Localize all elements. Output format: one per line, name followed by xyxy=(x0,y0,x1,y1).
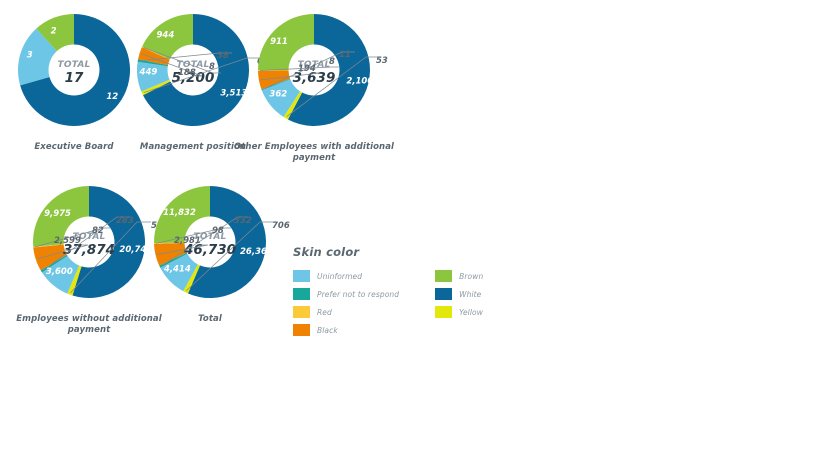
legend-item[interactable]: Red xyxy=(293,306,399,318)
donut-slice-label: 11,832 xyxy=(163,208,196,218)
legend: Skin color UninformedPrefer not to respo… xyxy=(293,245,503,336)
legend-column: BrownWhiteYellow xyxy=(435,270,483,336)
legend-swatch-icon xyxy=(435,306,452,318)
legend-swatch-icon xyxy=(293,306,310,318)
donut-slice-label-outside: 188 xyxy=(178,68,196,78)
donut-slice-label: 362 xyxy=(269,89,287,99)
donut-caption: Total xyxy=(125,314,295,325)
legend-column: UninformedPrefer not to respondRedBlack xyxy=(293,270,399,336)
donut-slice-label: 3,600 xyxy=(46,267,73,277)
donut-slice-label-outside: 194 xyxy=(298,64,316,74)
legend-swatch-icon xyxy=(293,270,310,282)
donut-slice-label-outside: 2,981 xyxy=(174,236,201,246)
legend-item[interactable]: Black xyxy=(293,324,399,336)
legend-title: Skin color xyxy=(293,245,503,259)
donut-slice-label: 944 xyxy=(156,30,174,40)
legend-item[interactable]: White xyxy=(435,288,483,300)
donut-slice-label: 4,414 xyxy=(163,264,191,274)
legend-item[interactable]: Brown xyxy=(435,270,483,282)
donut-slice-label: 2,100 xyxy=(346,77,373,87)
legend-item-label: Uninformed xyxy=(317,272,362,281)
donut-slice-label-outside: 53 xyxy=(376,56,388,66)
donut-slice-label-outside: 82 xyxy=(92,226,104,236)
donut-slice-label: 9,975 xyxy=(44,209,71,219)
legend-swatch-icon xyxy=(435,288,452,300)
legend-item[interactable]: Uninformed xyxy=(293,270,399,282)
donut-slice-label-outside: 98 xyxy=(212,226,224,236)
donut-total-value: 17 xyxy=(65,70,84,86)
donut-slice-label: 26,367 xyxy=(240,247,273,257)
legend-item[interactable]: Prefer not to respond xyxy=(293,288,399,300)
legend-swatch-icon xyxy=(435,270,452,282)
legend-columns: UninformedPrefer not to respondRedBlackB… xyxy=(293,270,503,336)
legend-swatch-icon xyxy=(293,288,310,300)
legend-item-label: Yellow xyxy=(459,308,483,317)
legend-item-label: Black xyxy=(317,326,338,335)
legend-item-label: Brown xyxy=(459,272,483,281)
donut-slice-label: 3 xyxy=(27,51,33,61)
donut-slice-label-outside: 8 xyxy=(329,57,335,67)
donut-total-label: TOTAL xyxy=(58,60,91,70)
donut-slice-label-outside: 706 xyxy=(272,221,290,231)
legend-item[interactable]: Yellow xyxy=(435,306,483,318)
donut-slice-label-outside: 2,599 xyxy=(54,236,81,246)
donut-slice-label: 2 xyxy=(51,26,57,36)
donut-slice-label: 449 xyxy=(139,68,158,78)
legend-item-label: White xyxy=(459,290,481,299)
donut-slice-label-outside: 332 xyxy=(234,216,252,226)
infographic-canvas: TOTAL171232Executive BoardTOTAL5,2003,51… xyxy=(0,0,819,460)
legend-item-label: Prefer not to respond xyxy=(317,290,399,299)
legend-item-label: Red xyxy=(317,308,332,317)
donut-slice-label-outside: 11 xyxy=(339,50,351,60)
legend-swatch-icon xyxy=(293,324,310,336)
donut-slice-label: 911 xyxy=(270,37,288,47)
